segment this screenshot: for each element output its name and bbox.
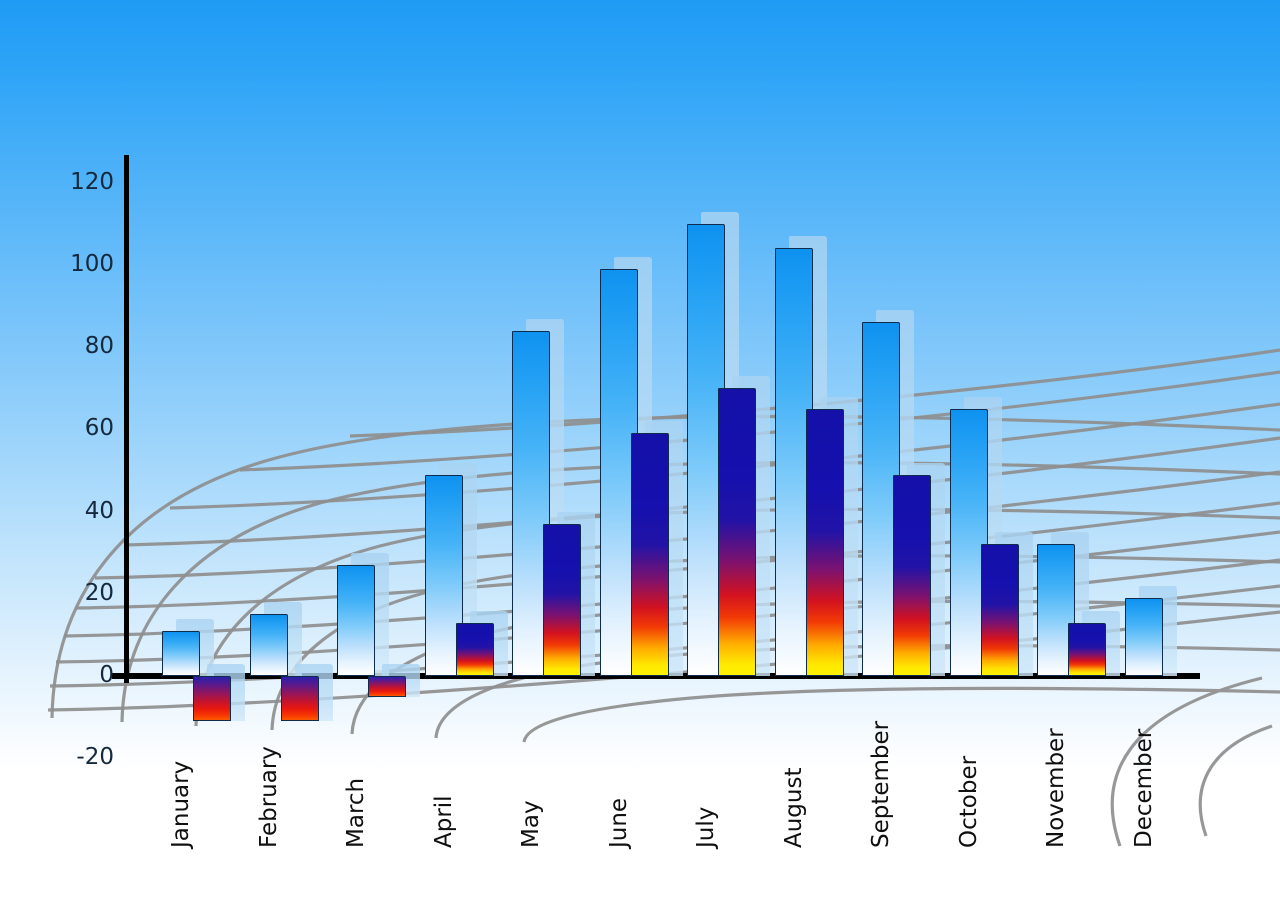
x-axis-label-august: August [783, 768, 806, 849]
plot-area: 120100806040200-20 JanuaryFebruaryMarchA… [0, 0, 1280, 905]
x-axis-label-december: December [1133, 729, 1156, 848]
bar-series2-august-face [806, 409, 844, 676]
x-axis-label-april: April [433, 795, 456, 848]
y-axis-tick-label: 120 [44, 171, 114, 194]
bar-series2-september-face [893, 475, 931, 676]
y-axis-tick-label: 100 [44, 253, 114, 276]
bar-series2-november-face [1068, 623, 1106, 676]
y-axis-zero-tick [112, 673, 140, 679]
x-axis-label-september: September [870, 721, 893, 848]
y-axis-tick-label: -20 [44, 746, 114, 769]
x-axis-label-january: January [170, 761, 193, 848]
x-axis-label-july: July [695, 807, 718, 848]
bar-series2-october-face [981, 544, 1019, 676]
bar-series2-may-face [543, 524, 581, 676]
y-axis-tick-label: 60 [44, 417, 114, 440]
bar-series2-april-face [456, 623, 494, 676]
bar-series1-january-face [162, 631, 200, 676]
bar-series1-december-face [1125, 598, 1163, 676]
x-axis-label-february: February [258, 746, 281, 848]
y-axis-tick-label: 40 [44, 500, 114, 523]
bar-series2-february-face [281, 676, 319, 721]
bar-series2-january-face [193, 676, 231, 721]
x-axis-label-may: May [520, 800, 543, 848]
bar-series2-june-face [631, 433, 669, 676]
x-axis-label-october: October [958, 756, 981, 848]
x-axis-label-march: March [345, 778, 368, 848]
bar-series1-february-face [250, 614, 288, 676]
bar-series1-march-face [337, 565, 375, 676]
x-axis-label-november: November [1045, 728, 1068, 848]
y-axis-tick-label: 80 [44, 335, 114, 358]
y-axis-line [124, 155, 129, 683]
bar-series2-march-face [368, 676, 406, 697]
y-axis-tick-label: 20 [44, 582, 114, 605]
y-axis-tick-label: 0 [44, 664, 114, 687]
bar-chart: 120100806040200-20 JanuaryFebruaryMarchA… [0, 0, 1280, 905]
x-axis-label-june: June [608, 798, 631, 848]
bar-series2-july-face [718, 388, 756, 676]
